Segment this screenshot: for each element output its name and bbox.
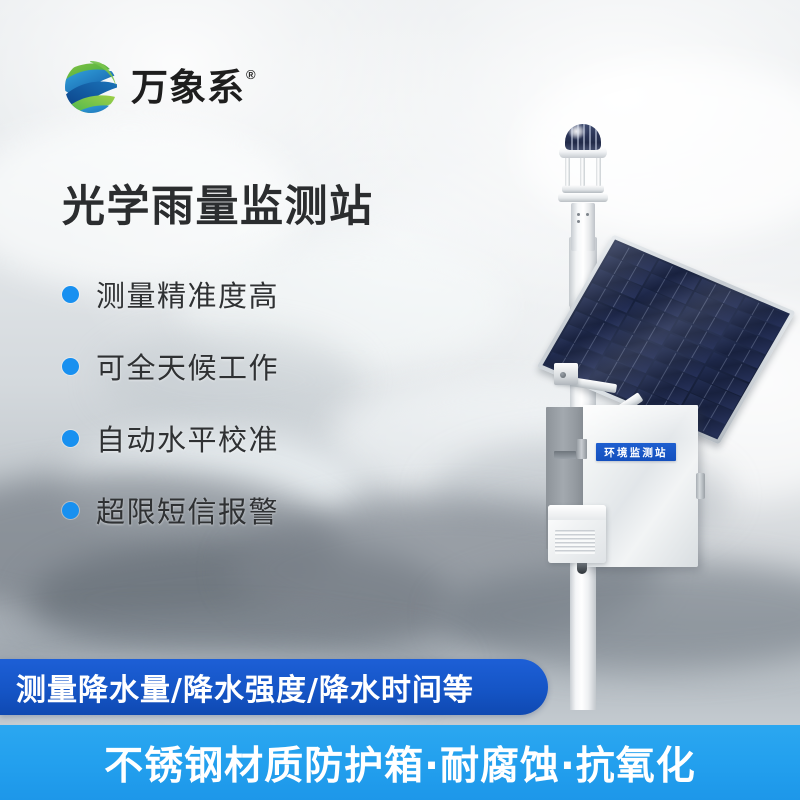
feature-list: 测量精准度高 可全天候工作 自动水平校准 超限短信报警 [62, 258, 392, 546]
cabinet-label-plate: 环境监测站 [596, 443, 676, 461]
feature-item: 可全天候工作 [62, 330, 392, 402]
sensor-mid-shelf [562, 185, 604, 193]
feature-banner-text: 测量降水量/降水强度/降水时间等 [16, 665, 474, 709]
vent-slats-icon [555, 530, 595, 554]
feature-label: 可全天候工作 [96, 345, 279, 387]
feature-item: 测量精准度高 [62, 258, 392, 330]
bullet-dot-icon [62, 430, 79, 447]
feature-item: 超限短信报警 [62, 474, 392, 546]
brand-logo: 万象系 ® [62, 58, 256, 116]
bracket-bolt-icon [560, 372, 566, 378]
bullet-dot-icon [62, 286, 79, 303]
page-title: 光学雨量监测站 [62, 172, 374, 234]
brand-name-block: 万象系 ® [131, 69, 256, 106]
cabinet-bottom-fitting [577, 563, 587, 574]
bullet-dot-icon [62, 358, 79, 375]
feature-label: 超限短信报警 [96, 489, 279, 531]
bottom-tagline-text: 不锈钢材质防护箱·耐腐蚀·抗氧化 [104, 735, 696, 791]
product-banner-image: 万象系 ® 光学雨量监测站 测量精准度高 可全天候工作 自动水平校准 超限短信报… [0, 0, 800, 800]
bullet-dot-icon [62, 502, 79, 519]
feature-label: 测量精准度高 [96, 273, 279, 315]
registered-trademark-icon: ® [246, 67, 256, 82]
feature-label: 自动水平校准 [96, 417, 279, 459]
sensor-lower-shelf [558, 193, 608, 202]
cabinet-label-text: 环境监测站 [604, 445, 668, 460]
cabinet-side-vent [554, 451, 576, 459]
brand-name: 万象系 [131, 69, 245, 106]
globe-swirl-logo-icon [62, 58, 120, 116]
pole-bracket [554, 363, 578, 385]
sensor-cage [565, 156, 601, 186]
monitoring-station-product: 环境监测站 [470, 105, 800, 705]
optical-rain-sensor-dome [565, 124, 601, 150]
sensor-barrel [571, 203, 595, 251]
vented-instrument-box [548, 505, 606, 563]
feature-item: 自动水平校准 [62, 402, 392, 474]
cabinet-hinge-top [577, 439, 587, 459]
feature-banner: 测量降水量/降水强度/降水时间等 [0, 659, 548, 715]
cabinet-latch-handle [696, 473, 705, 499]
bottom-tagline-bar: 不锈钢材质防护箱·耐腐蚀·抗氧化 [0, 725, 800, 800]
